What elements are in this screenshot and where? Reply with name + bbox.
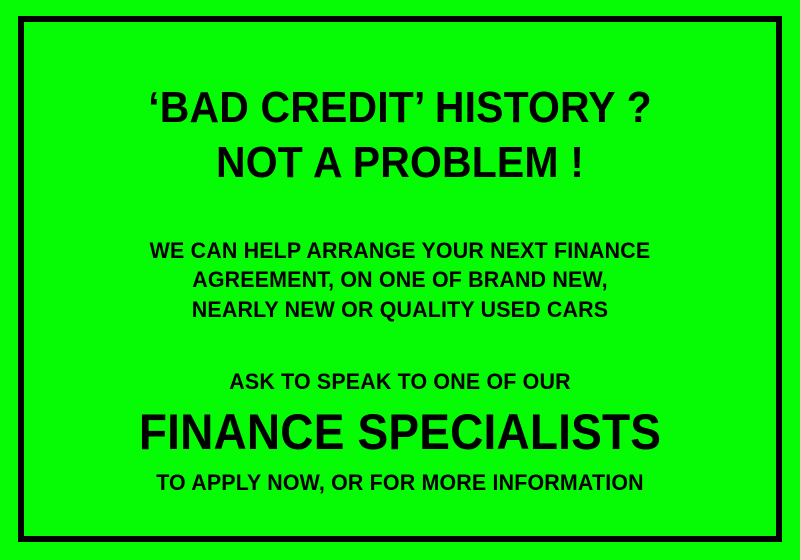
body-line-3: NEARLY NEW OR QUALITY USED CARS bbox=[20, 295, 780, 325]
cta-lead-text: ASK TO SPEAK TO ONE OF OUR bbox=[20, 367, 780, 396]
poster-content: ‘BAD CREDIT’ HISTORY ? NOT A PROBLEM ! W… bbox=[0, 0, 800, 560]
advert-poster: ‘BAD CREDIT’ HISTORY ? NOT A PROBLEM ! W… bbox=[0, 0, 800, 560]
cta-main-heading: FINANCE SPECIALISTS bbox=[32, 406, 768, 459]
cta-footer-text: TO APPLY NOW, OR FOR MORE INFORMATION bbox=[20, 468, 780, 497]
body-line-1: WE CAN HELP ARRANGE YOUR NEXT FINANCE bbox=[20, 236, 780, 266]
headline-line-2: NOT A PROBLEM ! bbox=[28, 141, 772, 186]
body-line-2: AGREEMENT, ON ONE OF BRAND NEW, bbox=[20, 265, 780, 295]
headline-line-1: ‘BAD CREDIT’ HISTORY ? bbox=[28, 86, 772, 131]
